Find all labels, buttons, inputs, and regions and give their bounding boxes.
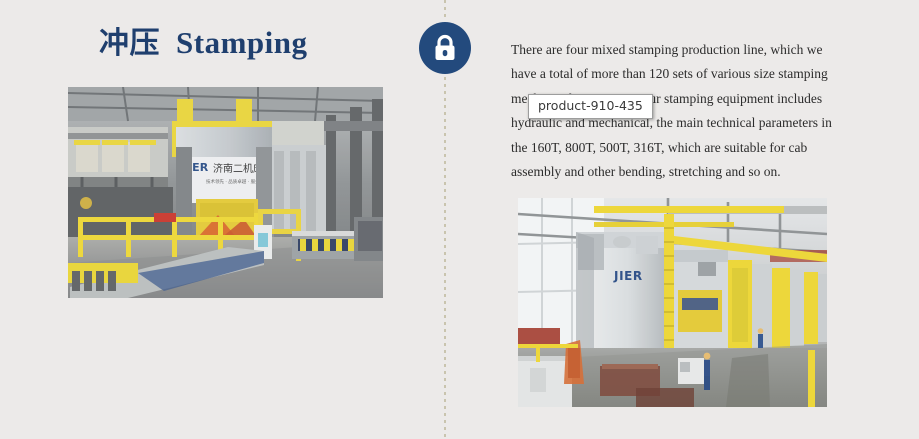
photo-2-artwork: JIER xyxy=(518,198,827,407)
lock-glyph xyxy=(432,34,458,62)
stamping-line-photo-1[interactable]: JIER 济南二机床 技术领先 · 品质卓越 · 服务至上 xyxy=(68,87,383,298)
slide-canvas: 冲压Stamping xyxy=(0,0,919,439)
page-title: 冲压Stamping xyxy=(99,27,307,59)
page-title-chinese: 冲压 xyxy=(99,26,160,61)
photo-1-artwork: JIER 济南二机床 技术领先 · 品质卓越 · 服务至上 xyxy=(68,87,383,298)
page-title-english: Stamping xyxy=(176,25,307,60)
stamping-line-photo-2[interactable]: JIER xyxy=(518,198,827,407)
lock-icon xyxy=(419,22,471,74)
product-tooltip: product-910-435 xyxy=(528,94,653,119)
